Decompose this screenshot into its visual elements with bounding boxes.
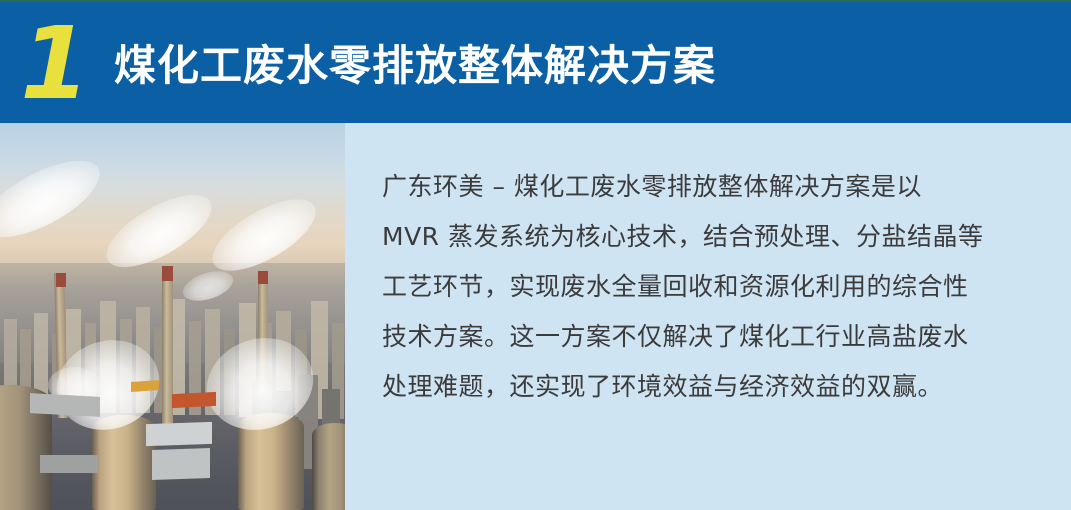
photo-roof-yellow — [131, 380, 159, 392]
illustration-photo — [0, 123, 345, 510]
header-bar: 1 煤化工废水零排放整体解决方案 — [0, 0, 1071, 123]
photo-roof-white-2 — [152, 448, 210, 480]
photo-cooling-tower-4 — [312, 423, 345, 510]
paragraph-line: 处理难题，还实现了环境效益与经济效益的双赢。 — [382, 362, 982, 412]
paragraph-line: 广东环美 – 煤化工废水零排放整体解决方案是以 — [382, 162, 982, 212]
photo-roof-white-3 — [30, 393, 100, 417]
photo-stack-1-cap — [56, 273, 66, 287]
paragraph-line: 技术方案。这一方案不仅解决了煤化工行业高盐废水 — [382, 312, 982, 362]
photo-roof-white-5 — [40, 455, 98, 473]
photo-stack-3-cap — [258, 271, 268, 284]
slide-root: 1 煤化工废水零排放整体解决方案 — [0, 0, 1071, 510]
photo-roof-white-1 — [146, 422, 212, 446]
paragraph-line: MVR 蒸发系统为核心技术，结合预处理、分盐结晶等 — [382, 212, 982, 262]
photo-stack-2-cap — [162, 266, 173, 281]
page-title: 煤化工废水零排放整体解决方案 — [114, 38, 716, 94]
photo-canvas — [0, 123, 345, 510]
section-number: 1 — [18, 16, 90, 112]
description-paragraph: 广东环美 – 煤化工废水零排放整体解决方案是以 MVR 蒸发系统为核心技术，结合… — [382, 162, 982, 412]
paragraph-line: 工艺环节，实现废水全量回收和资源化利用的综合性 — [382, 262, 982, 312]
photo-roof-orange — [172, 392, 216, 408]
